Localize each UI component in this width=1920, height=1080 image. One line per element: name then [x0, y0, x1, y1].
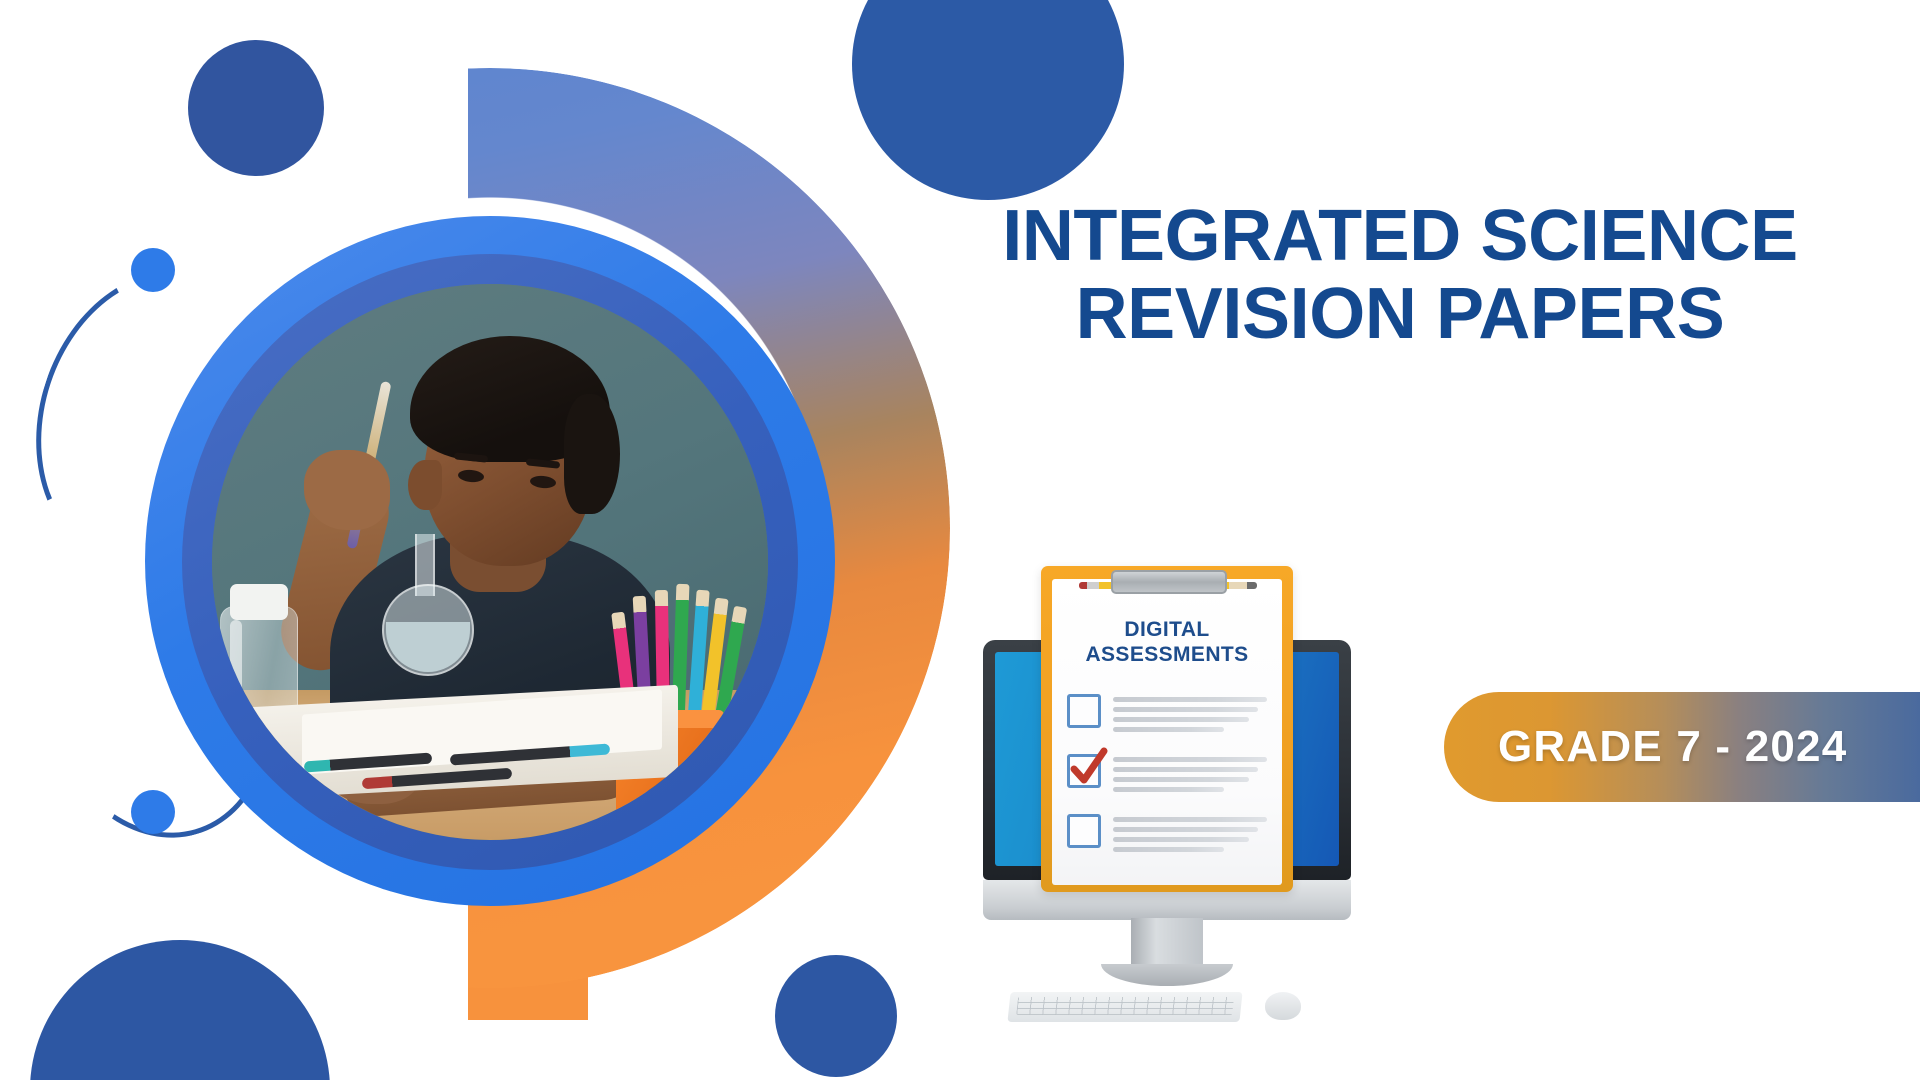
clipboard-clip	[1111, 570, 1227, 594]
checklist-item-text	[1113, 754, 1267, 797]
photo-raised-hand	[304, 450, 390, 530]
grade-badge-label: GRADE 7 - 2024	[1444, 722, 1847, 772]
ring-composition	[30, 68, 950, 988]
poster-canvas: INTEGRATED SCIENCE REVISION PAPERS DIGIT…	[0, 0, 1920, 1080]
grade-badge: GRADE 7 - 2024	[1444, 692, 1920, 802]
photo-bottle-cap	[230, 584, 288, 620]
clipboard-checklist	[1067, 694, 1267, 874]
checklist-item	[1067, 814, 1267, 857]
student-photo-scene	[212, 284, 768, 840]
checklist-item	[1067, 754, 1267, 797]
keyboard	[1007, 992, 1242, 1022]
photo-student-ear	[408, 460, 442, 510]
checkbox-unchecked-icon	[1067, 694, 1101, 728]
page-title-line-2: REVISION PAPERS	[950, 276, 1850, 354]
photo-bottle-highlight	[230, 620, 242, 800]
checklist-item	[1067, 694, 1267, 737]
checkbox-checked-icon	[1067, 754, 1101, 788]
mouse	[1265, 992, 1301, 1020]
checklist-item-text	[1113, 814, 1267, 857]
keyboard-keys	[1016, 997, 1234, 1015]
digital-assessment-illustration: DIGITAL ASSESSMENTS	[975, 552, 1365, 1022]
photo-student-hair-side	[564, 394, 620, 514]
clipboard-heading-line-1: DIGITAL	[1041, 618, 1293, 643]
monitor-stand-foot	[1101, 964, 1233, 986]
page-title: INTEGRATED SCIENCE REVISION PAPERS	[950, 198, 1850, 354]
clipboard-heading: DIGITAL ASSESSMENTS	[1041, 618, 1293, 668]
checkmark-icon	[1067, 745, 1111, 789]
checkbox-unchecked-icon	[1067, 814, 1101, 848]
checklist-item-text	[1113, 694, 1267, 737]
page-title-line-1: INTEGRATED SCIENCE	[950, 198, 1850, 276]
student-photo	[212, 284, 768, 840]
clipboard: DIGITAL ASSESSMENTS	[1041, 566, 1293, 892]
clipboard-heading-line-2: ASSESSMENTS	[1041, 643, 1293, 668]
